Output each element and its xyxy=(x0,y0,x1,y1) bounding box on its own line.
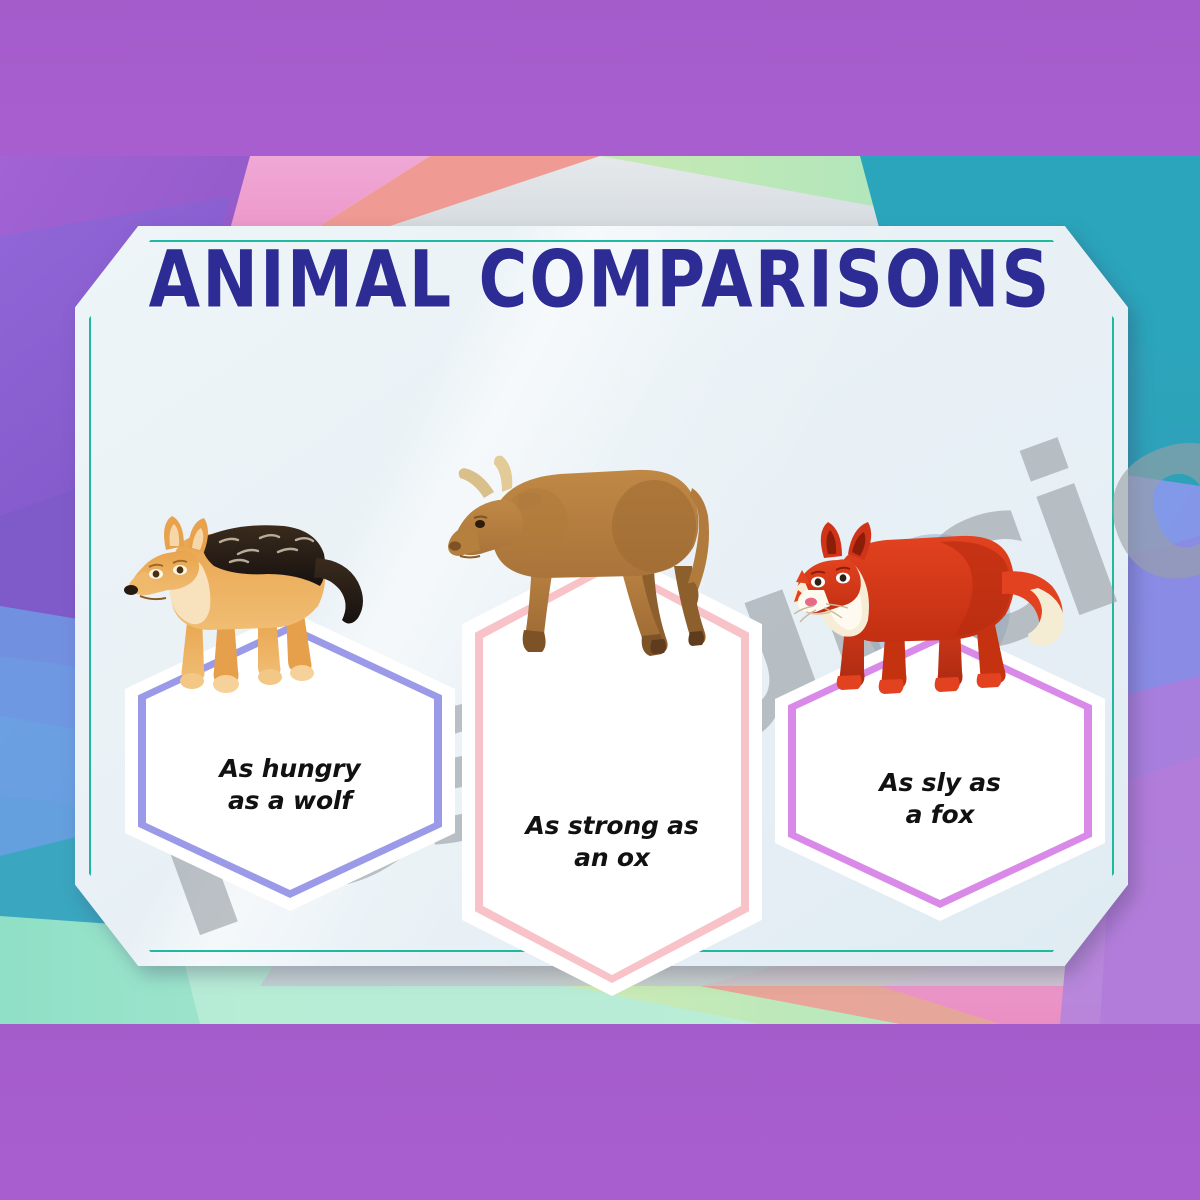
label-line-1: As strong as xyxy=(525,811,698,840)
ox-illustration xyxy=(440,438,740,668)
label-line-1: As sly as xyxy=(879,768,1000,797)
hex-label-ox: As strong as an ox xyxy=(462,810,762,873)
fox-illustration xyxy=(790,494,1075,724)
frame-band-bottom xyxy=(0,1024,1200,1200)
frame-band-top xyxy=(0,0,1200,156)
label-line-2: a fox xyxy=(906,800,975,829)
wolf-illustration xyxy=(118,478,378,708)
label-line-2: an ox xyxy=(574,843,650,872)
label-line-1: As hungry xyxy=(219,754,360,783)
hex-label-wolf: As hungry as a wolf xyxy=(125,753,455,816)
label-line-2: as a wolf xyxy=(228,786,352,815)
poster-stage: resourcio ANIMAL COMPARISONS As hungry a… xyxy=(0,0,1200,1200)
page-title: ANIMAL COMPARISONS xyxy=(0,236,1200,326)
hex-label-fox: As sly as a fox xyxy=(775,767,1105,830)
artboard: resourcio ANIMAL COMPARISONS As hungry a… xyxy=(0,156,1200,1024)
